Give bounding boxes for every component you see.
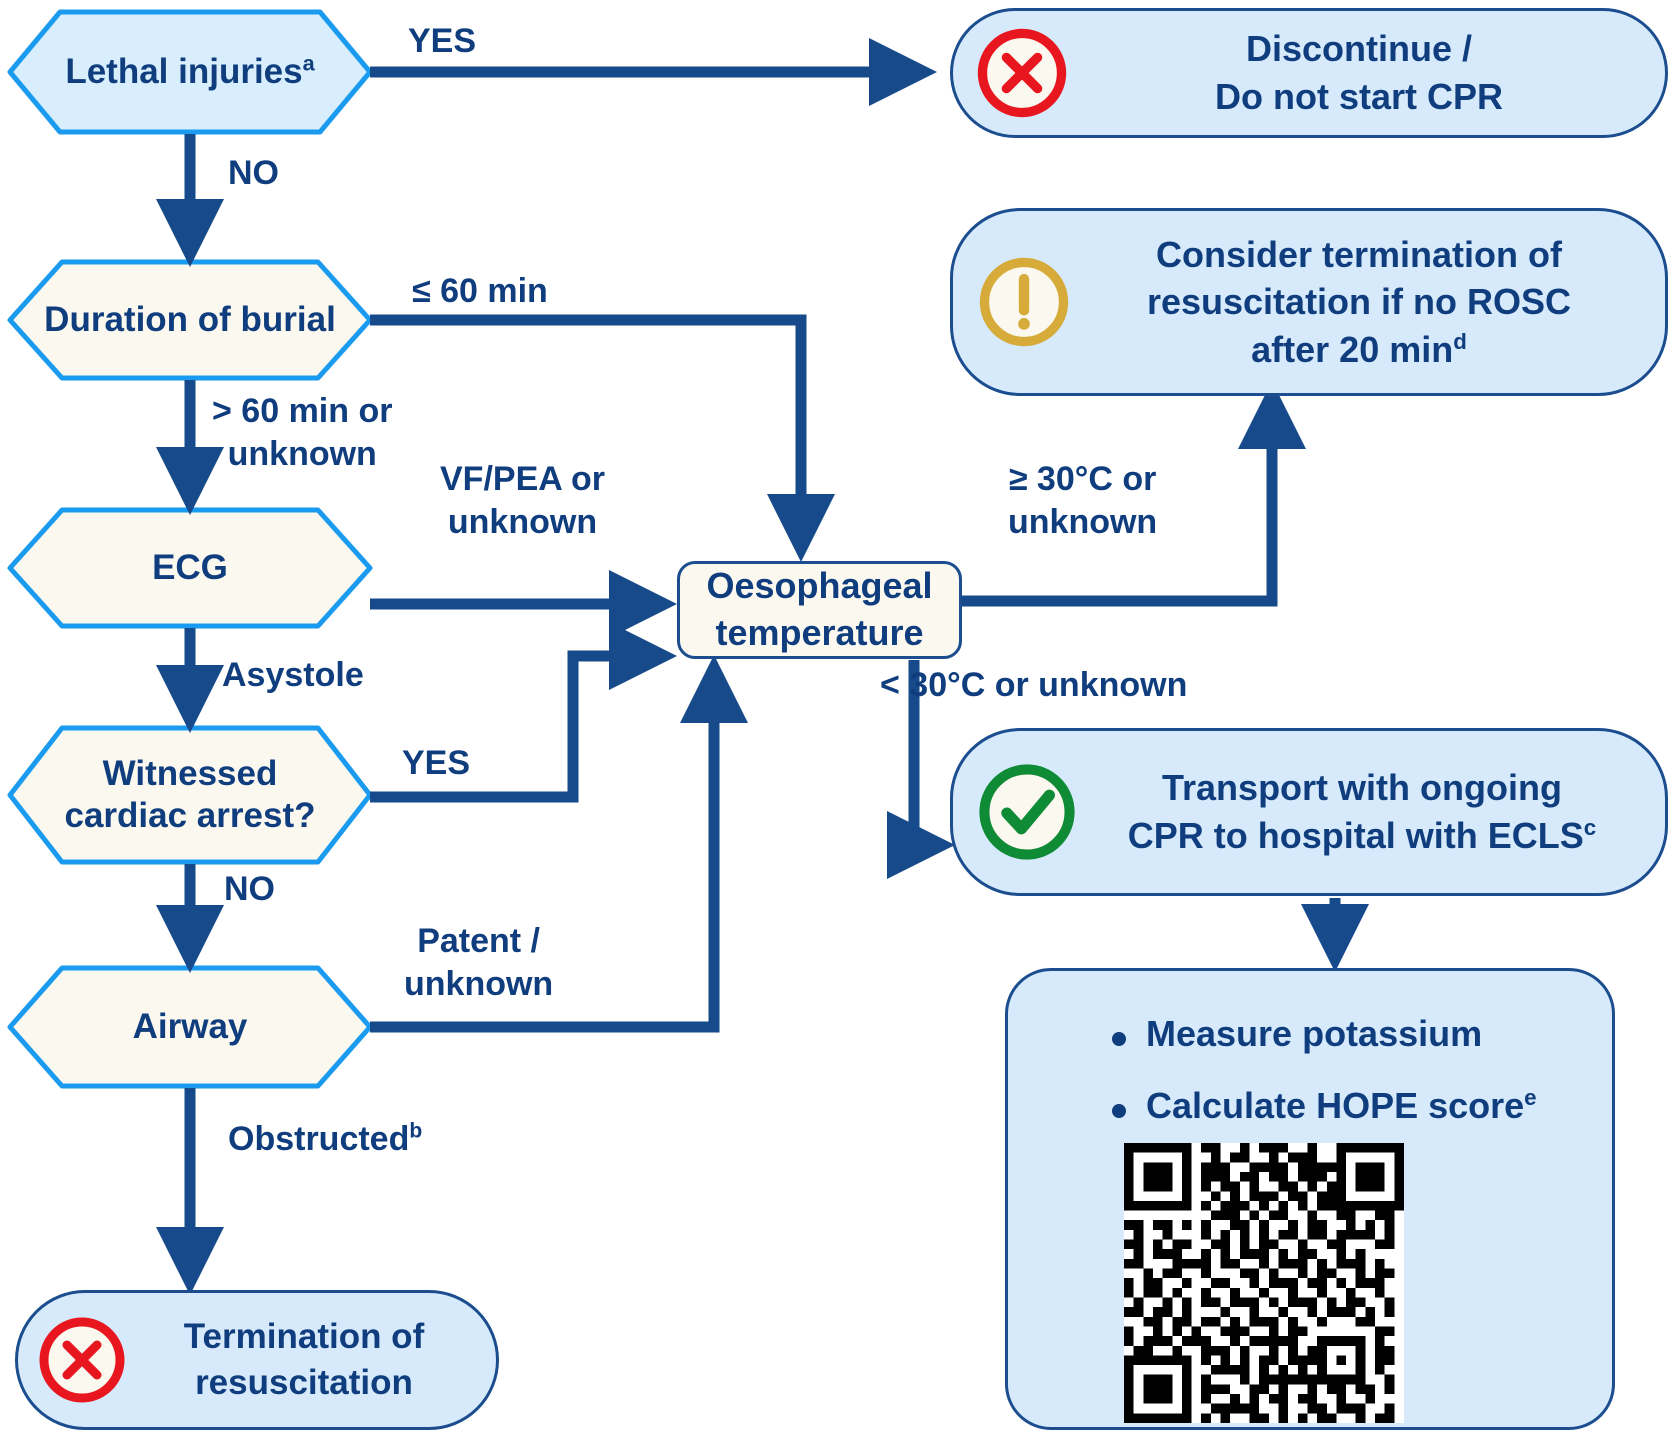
node-lethal-injuries[interactable]: Lethal injuriesa: [10, 12, 370, 132]
outcome-transport-ecls-line1: Transport with ongoing: [1077, 764, 1647, 812]
outcome-transport-ecls-line2-text: CPR to hospital with ECLS: [1128, 815, 1584, 856]
success-circle-check-icon: [965, 750, 1089, 874]
footnote-marker-e: e: [1524, 1085, 1536, 1110]
footnote-marker-c: c: [1584, 815, 1596, 840]
outcome-consider-termination[interactable]: Consider termination of resuscitation if…: [950, 208, 1668, 396]
edge-label-airway-obstructed: Obstructedb: [228, 1118, 422, 1161]
outcome-consider-termination-text: Consider termination of resuscitation if…: [1071, 231, 1665, 374]
stop-circle-x-icon: [963, 14, 1081, 132]
outcome-termination-line2: resuscitation: [130, 1360, 478, 1406]
outcome-transport-ecls[interactable]: Transport with ongoing CPR to hospital w…: [950, 728, 1668, 896]
list-item-calculate-hope-score: Calculate HOPE scoree: [1112, 1085, 1612, 1127]
warning-circle-exclamation-icon: [965, 243, 1083, 361]
outcome-termination-text: Termination of resuscitation: [130, 1314, 496, 1406]
node-duration-of-burial[interactable]: Duration of burial: [10, 262, 370, 378]
outcome-discontinue-line1: Discontinue /: [1071, 25, 1647, 73]
edge-label-ecg-vfpea: VF/PEA or unknown: [440, 458, 605, 543]
edge-label-witnessed-no: NO: [224, 868, 275, 911]
edge-label-lethal-no: NO: [228, 152, 279, 195]
footnote-marker-b: b: [409, 1120, 422, 1143]
outcome-consider-termination-line2: resuscitation if no ROSC: [1071, 278, 1647, 326]
node-ecg-label: ECG: [152, 547, 228, 589]
outcome-transport-ecls-line2: CPR to hospital with ECLSc: [1077, 812, 1647, 860]
hospital-actions-box[interactable]: Measure potassium Calculate HOPE scoree: [1005, 968, 1615, 1430]
outcome-termination-of-resuscitation[interactable]: Termination of resuscitation: [15, 1290, 499, 1430]
edge-label-witnessed-yes: YES: [402, 742, 470, 785]
node-oesophageal-temperature[interactable]: Oesophageal temperature: [677, 561, 962, 659]
list-item-measure-potassium: Measure potassium: [1112, 1013, 1612, 1055]
bullet-dot-icon: [1112, 1104, 1126, 1118]
edge-label-lethal-yes: YES: [408, 20, 476, 63]
list-item-calculate-hope-score-label: Calculate HOPE score: [1146, 1085, 1524, 1126]
footnote-marker-d: d: [1453, 329, 1467, 354]
flowchart-canvas: Lethal injuriesa Duration of burial ECG …: [0, 0, 1680, 1438]
outcome-transport-ecls-text: Transport with ongoing CPR to hospital w…: [1077, 764, 1665, 859]
bullet-dot-icon: [1112, 1032, 1126, 1046]
outcome-consider-termination-line1: Consider termination of: [1071, 231, 1647, 279]
hope-score-qr-code[interactable]: [1124, 1143, 1404, 1423]
edge-label-temp-lt30: < 30°C or unknown: [880, 664, 1187, 707]
list-item-measure-potassium-label: Measure potassium: [1146, 1013, 1482, 1055]
node-witnessed-cardiac-arrest-label: Witnessed cardiac arrest?: [65, 753, 316, 837]
outcome-discontinue-line2: Do not start CPR: [1071, 73, 1647, 121]
node-lethal-injuries-label: Lethal injuries: [65, 52, 302, 91]
outcome-termination-line1: Termination of: [130, 1314, 478, 1360]
edge-label-burial-gt60: > 60 min or unknown: [212, 390, 392, 475]
node-witnessed-cardiac-arrest[interactable]: Witnessed cardiac arrest?: [10, 728, 370, 862]
edge-label-airway-patent: Patent / unknown: [404, 920, 553, 1005]
edge-label-ecg-asystole: Asystole: [222, 654, 364, 697]
node-airway-label: Airway: [133, 1006, 248, 1048]
edge-label-temp-ge30: ≥ 30°C or unknown: [1008, 458, 1157, 543]
outcome-discontinue-text: Discontinue / Do not start CPR: [1071, 25, 1665, 120]
hospital-actions-list: Measure potassium Calculate HOPE scoree: [1008, 971, 1612, 1127]
outcome-consider-termination-line3: after 20 mind: [1071, 326, 1647, 374]
outcome-discontinue[interactable]: Discontinue / Do not start CPR: [950, 8, 1668, 138]
stop-circle-x-icon: [26, 1304, 138, 1416]
node-ecg[interactable]: ECG: [10, 510, 370, 626]
node-duration-of-burial-label: Duration of burial: [44, 299, 336, 341]
edge-label-burial-le60: ≤ 60 min: [412, 270, 548, 313]
outcome-consider-termination-line3-text: after 20 min: [1251, 329, 1453, 370]
edge-label-airway-obstructed-text: Obstructed: [228, 1120, 409, 1158]
footnote-marker-a: a: [303, 50, 315, 75]
node-oesophageal-temperature-label: Oesophageal temperature: [706, 563, 932, 657]
node-airway[interactable]: Airway: [10, 968, 370, 1086]
